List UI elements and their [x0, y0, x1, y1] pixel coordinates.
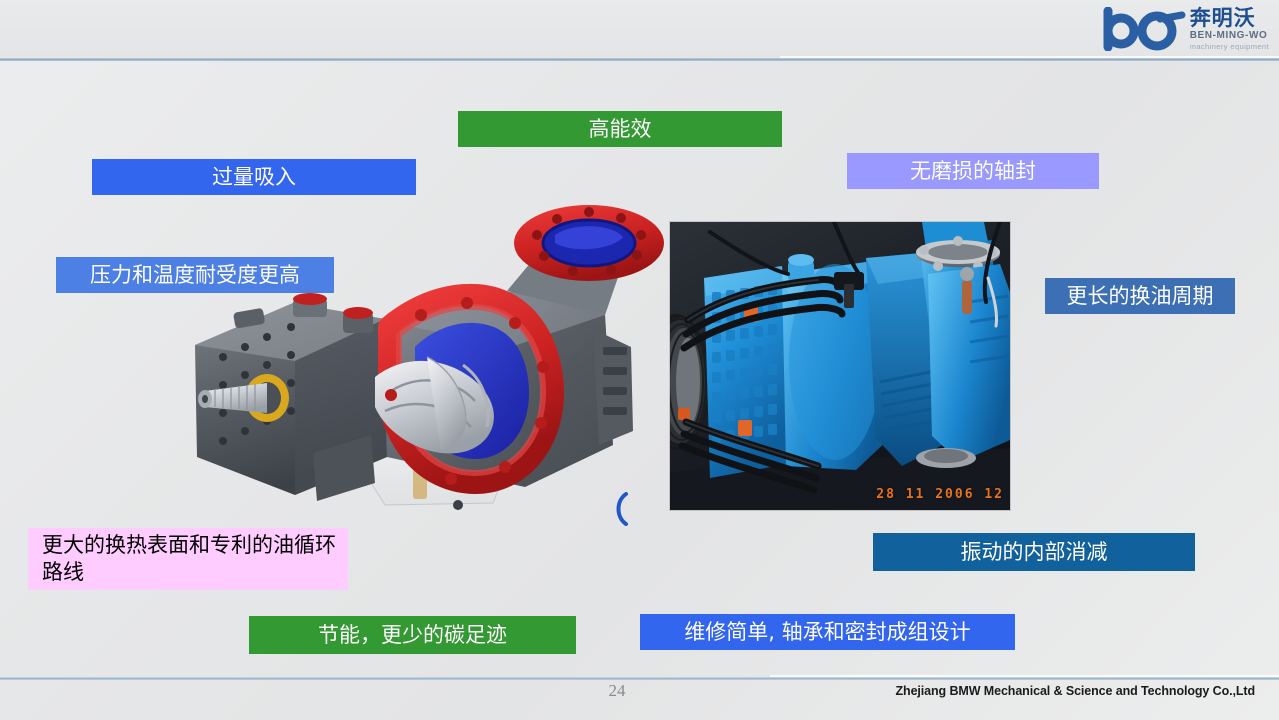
- logo-chinese-name: 奔明沃: [1190, 8, 1269, 29]
- slide-header: [0, 0, 1279, 59]
- callout-over-suction: 过量吸入: [92, 159, 416, 195]
- callout-label: 更大的换热表面和专利的油循环路线: [42, 532, 338, 587]
- callout-label: 过量吸入: [212, 164, 296, 191]
- callout-label: 无磨损的轴封: [910, 158, 1036, 185]
- callout-easy-maintenance: 维修简单, 轴承和密封成组设计: [640, 614, 1015, 650]
- header-divider: [0, 58, 1279, 61]
- callout-label: 更长的换油周期: [1067, 283, 1214, 310]
- logo-tagline: machinery equipment: [1190, 43, 1269, 51]
- footer-divider-highlight: [770, 675, 1279, 677]
- callout-label: 振动的内部消减: [961, 539, 1108, 566]
- screw-compressor-cutaway-render: [175, 195, 665, 545]
- photo-timestamp: 28 11 2006 12: [876, 487, 1004, 502]
- blue-screw-compressor-photo: 28 11 2006 12: [669, 221, 1011, 511]
- callout-label: 高能效: [589, 116, 652, 143]
- callout-vibration-damping: 振动的内部消减: [873, 533, 1195, 571]
- callout-longer-oil-change: 更长的换油周期: [1045, 278, 1235, 314]
- callout-high-efficiency: 高能效: [458, 111, 782, 147]
- bo-monogram-icon: [1102, 7, 1188, 51]
- callout-energy-saving-carbon: 节能，更少的碳足迹: [249, 616, 576, 654]
- logo-english-name: BEN-MING-WO: [1190, 31, 1269, 41]
- callout-wear-free-shaft-seal: 无磨损的轴封: [847, 153, 1099, 189]
- presentation-slide: 奔明沃 BEN-MING-WO machinery equipment: [0, 0, 1279, 720]
- company-logo: 奔明沃 BEN-MING-WO machinery equipment: [1089, 2, 1269, 56]
- blue-arc-artifact: [612, 492, 634, 526]
- footer-divider: [0, 677, 1279, 680]
- header-divider-highlight: [780, 56, 1279, 58]
- callout-label: 节能，更少的碳足迹: [318, 622, 507, 649]
- page-number: 24: [597, 681, 637, 701]
- callout-label: 压力和温度耐受度更高: [90, 262, 300, 289]
- callout-higher-pressure-temperature: 压力和温度耐受度更高: [56, 257, 334, 293]
- callout-label: 维修简单, 轴承和密封成组设计: [684, 619, 970, 646]
- footer-company-name: Zhejiang BMW Mechanical & Science and Te…: [896, 684, 1256, 698]
- callout-larger-heat-exchange: 更大的换热表面和专利的油循环路线: [28, 528, 348, 590]
